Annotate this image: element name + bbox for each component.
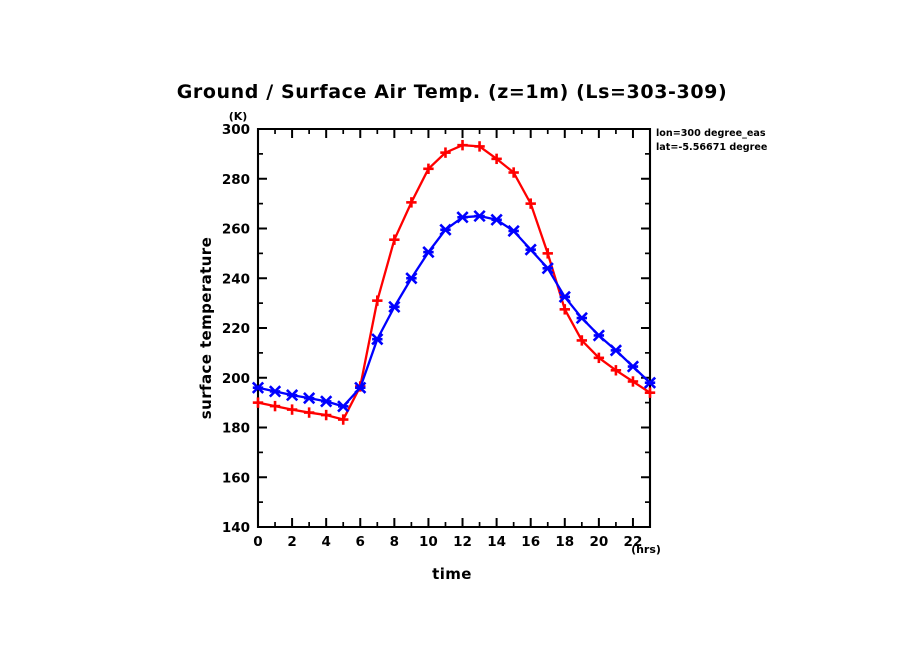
data-point-marker — [560, 304, 570, 314]
data-point-marker — [508, 226, 518, 236]
data-point-marker — [270, 386, 280, 396]
data-series — [253, 140, 655, 425]
data-point-marker — [457, 140, 467, 150]
x-tick-label: 16 — [521, 534, 540, 550]
data-point-marker — [543, 248, 553, 258]
data-point-marker — [406, 197, 416, 207]
y-tick-label: 260 — [222, 222, 250, 238]
y-axis-unit-label: (K) — [229, 110, 248, 123]
data-point-marker — [253, 397, 263, 407]
data-point-marker — [304, 393, 314, 403]
data-point-marker — [372, 334, 382, 344]
data-point-marker — [321, 396, 331, 406]
plot-figure: 0246810121416182022 14016018020022024026… — [0, 0, 904, 654]
data-point-marker — [525, 198, 535, 208]
data-point-marker — [372, 295, 382, 305]
data-point-marker — [287, 404, 297, 414]
data-point-marker — [287, 390, 297, 400]
x-tick-label: 4 — [321, 534, 330, 550]
y-tick-label: 180 — [222, 421, 250, 437]
y-tick-label: 300 — [222, 122, 250, 138]
data-point-marker — [440, 225, 450, 235]
data-point-marker — [457, 212, 467, 222]
x-tick-label: 2 — [287, 534, 296, 550]
data-point-marker — [543, 263, 553, 273]
data-point-marker — [406, 273, 416, 283]
data-point-marker — [560, 292, 570, 302]
y-tick-label: 280 — [222, 172, 250, 188]
x-tick-label: 14 — [487, 534, 506, 550]
x-tick-label: 6 — [356, 534, 365, 550]
data-series-layer — [253, 140, 655, 425]
data-point-marker — [611, 345, 621, 355]
x-tick-label: 18 — [555, 534, 574, 550]
chart-canvas: 0246810121416182022 14016018020022024026… — [0, 0, 904, 654]
data-point-marker — [423, 247, 433, 257]
y-axis-tick-labels: 140160180200220240260280300 — [222, 122, 250, 536]
x-tick-label: 8 — [390, 534, 399, 550]
x-axis-unit-label: (hrs) — [631, 543, 661, 556]
y-tick-label: 200 — [222, 371, 250, 387]
y-tick-label: 220 — [222, 321, 250, 337]
annotation-lon: lon=300 degree_eas — [656, 128, 766, 139]
data-point-marker — [389, 234, 399, 244]
chart-title: Ground / Surface Air Temp. (z=1m) (Ls=30… — [177, 81, 728, 103]
data-point-marker — [491, 215, 501, 225]
data-point-marker — [304, 407, 314, 417]
x-tick-label: 12 — [453, 534, 472, 550]
x-axis-tick-labels: 0246810121416182022 — [253, 534, 642, 550]
x-axis-title: time — [432, 565, 472, 583]
data-point-marker — [321, 410, 331, 420]
data-point-marker — [474, 211, 484, 221]
data-point-marker — [338, 414, 348, 424]
y-tick-label: 140 — [222, 520, 250, 536]
data-point-marker — [338, 401, 348, 411]
y-axis-title: surface temperature — [197, 237, 215, 419]
x-tick-label: 20 — [589, 534, 608, 550]
data-point-marker — [389, 302, 399, 312]
annotation-lat: lat=-5.56671 degree — [656, 142, 768, 153]
data-point-marker — [628, 361, 638, 371]
x-tick-label: 0 — [253, 534, 262, 550]
corner-annotation: lon=300 degree_eas lat=-5.56671 degree — [656, 128, 768, 153]
data-series — [253, 211, 655, 412]
y-tick-label: 240 — [222, 271, 250, 287]
y-tick-label: 160 — [222, 470, 250, 486]
series-line — [258, 216, 650, 406]
data-point-marker — [270, 401, 280, 411]
data-point-marker — [577, 313, 587, 323]
data-point-marker — [594, 330, 604, 340]
x-tick-label: 10 — [419, 534, 438, 550]
series-line — [258, 145, 650, 419]
data-point-marker — [525, 244, 535, 254]
